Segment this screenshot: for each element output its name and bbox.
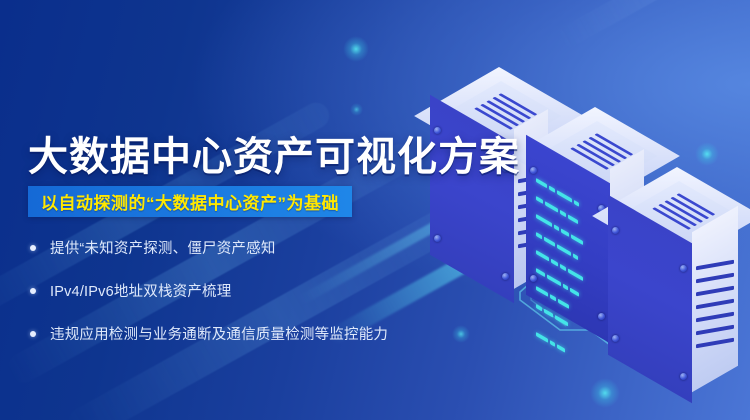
list-item: 违规应用检测与业务通断及通信质量检测等监控能力	[30, 323, 430, 344]
panel-bolt	[502, 273, 509, 280]
panel-bolt	[612, 335, 619, 342]
marketing-banner: 大数据中心资产可视化方案 以自动探测的“大数据中心资产”为基础 提供“未知资产探…	[0, 0, 750, 420]
banner-text-content: 大数据中心资产可视化方案 以自动探测的“大数据中心资产”为基础 提供“未知资产探…	[0, 0, 460, 420]
panel-bolt	[530, 167, 537, 174]
bullet-dot-icon	[30, 245, 36, 251]
list-item-label: 违规应用检测与业务通断及通信质量检测等监控能力	[50, 323, 388, 344]
list-item: 提供“未知资产探测、僵尸资产感知	[30, 237, 430, 258]
list-item-label: IPv4/IPv6地址双栈资产梳理	[50, 280, 231, 301]
server-code-display	[536, 174, 602, 384]
light-streak	[555, 0, 750, 51]
subtitle-band: 以自动探测的“大数据中心资产”为基础	[28, 186, 352, 217]
list-item-label: 提供“未知资产探测、僵尸资产感知	[50, 237, 276, 258]
panel-bolt	[612, 227, 619, 234]
panel-bolt	[530, 275, 537, 282]
list-item: IPv4/IPv6地址双栈资产梳理	[30, 280, 430, 301]
bullet-dot-icon	[30, 331, 36, 337]
page-title: 大数据中心资产可视化方案	[28, 124, 520, 182]
panel-bolt	[680, 265, 687, 272]
server-rack-illustration	[430, 55, 750, 415]
panel-bolt	[598, 313, 605, 320]
panel-bolt	[680, 373, 687, 380]
subtitle-band-text: 以自动探测的“大数据中心资产”为基础	[41, 189, 339, 214]
feature-list: 提供“未知资产探测、僵尸资产感知 IPv4/IPv6地址双栈资产梳理 违规应用检…	[30, 237, 430, 366]
bullet-dot-icon	[30, 288, 36, 294]
